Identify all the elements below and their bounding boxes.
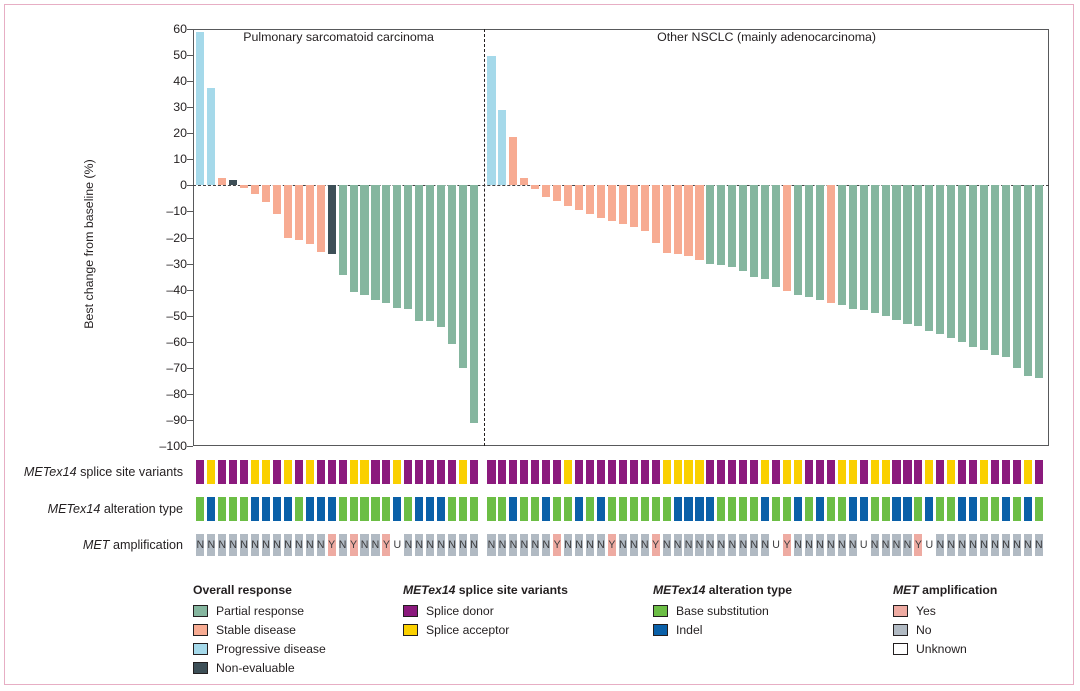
- track-cell-alteration: [925, 497, 933, 521]
- legend-label: Base substitution: [676, 604, 769, 618]
- legend-swatch-icon: [653, 605, 668, 617]
- bar: [761, 185, 769, 279]
- bar: [597, 185, 605, 218]
- track-cell-amplification: N: [674, 534, 682, 556]
- bar: [273, 185, 281, 214]
- track-cell-alteration: [717, 497, 725, 521]
- track-cell-amplification: Y: [914, 534, 922, 556]
- track-label-splice: METex14 splice site variants: [5, 465, 183, 479]
- track-cell-amplification: N: [520, 534, 528, 556]
- track-cell-alteration: [575, 497, 583, 521]
- track-cell-alteration: [750, 497, 758, 521]
- bar: [805, 185, 813, 297]
- track-cell-splice: [415, 460, 423, 484]
- y-tick-label: 0: [125, 178, 187, 192]
- track-cell-amplification: N: [564, 534, 572, 556]
- track-cell-amplification: N: [706, 534, 714, 556]
- track-cell-amplification: N: [218, 534, 226, 556]
- legend-label: Splice donor: [426, 604, 494, 618]
- y-tick-label: 60: [125, 22, 187, 36]
- bar: [470, 185, 478, 422]
- track-cell-splice: [761, 460, 769, 484]
- y-tick-label: –70: [125, 361, 187, 375]
- track-cell-amplification: N: [575, 534, 583, 556]
- panel-divider: [484, 29, 485, 446]
- track-cell-splice: [509, 460, 517, 484]
- bar: [630, 185, 638, 227]
- track-cell-alteration: [360, 497, 368, 521]
- track-cell-amplification: N: [728, 534, 736, 556]
- track-cell-splice: [240, 460, 248, 484]
- track-cell-amplification: Y: [350, 534, 358, 556]
- track-cell-alteration: [794, 497, 802, 521]
- track-cell-splice: [925, 460, 933, 484]
- legend-item: Partial response: [193, 601, 326, 620]
- legend-swatch-icon: [193, 643, 208, 655]
- track-cell-alteration: [542, 497, 550, 521]
- track-cell-alteration: [1035, 497, 1043, 521]
- legend-group: METex14 splice site variantsSplice donor…: [403, 583, 568, 639]
- track-cell-amplification: N: [739, 534, 747, 556]
- track-cell-splice: [663, 460, 671, 484]
- track-cell-splice: [218, 460, 226, 484]
- track-cell-splice: [498, 460, 506, 484]
- track-cell-alteration: [619, 497, 627, 521]
- bar: [487, 56, 495, 185]
- legend-item: Indel: [653, 620, 792, 639]
- track-cell-splice: [980, 460, 988, 484]
- track-cell-amplification: N: [641, 534, 649, 556]
- track-cell-alteration: [553, 497, 561, 521]
- bar: [339, 185, 347, 275]
- track-cell-splice: [360, 460, 368, 484]
- bar: [903, 185, 911, 323]
- track-cell-alteration: [608, 497, 616, 521]
- track-cell-splice: [608, 460, 616, 484]
- track-cell-alteration: [218, 497, 226, 521]
- y-tick-label: –90: [125, 413, 187, 427]
- track-cell-amplification: Y: [783, 534, 791, 556]
- track-cell-amplification: N: [404, 534, 412, 556]
- track-cell-splice: [827, 460, 835, 484]
- track-cell-splice: [641, 460, 649, 484]
- track-cell-amplification: N: [498, 534, 506, 556]
- track-cell-alteration: [382, 497, 390, 521]
- bar: [827, 185, 835, 302]
- track-cell-amplification: N: [470, 534, 478, 556]
- track-cell-amplification: N: [251, 534, 259, 556]
- track-cell-splice: [542, 460, 550, 484]
- track-cell-alteration: [207, 497, 215, 521]
- track-cell-amplification: N: [936, 534, 944, 556]
- y-tick-label: –50: [125, 309, 187, 323]
- bar: [717, 185, 725, 264]
- track-cell-alteration: [969, 497, 977, 521]
- track-cell-amplification: N: [426, 534, 434, 556]
- track-cell-amplification: N: [262, 534, 270, 556]
- track-cell-splice: [553, 460, 561, 484]
- track-cell-amplification: Y: [328, 534, 336, 556]
- bar: [619, 185, 627, 224]
- track-cell-amplification: Y: [652, 534, 660, 556]
- track-cell-splice: [947, 460, 955, 484]
- track-cell-amplification: N: [360, 534, 368, 556]
- track-cell-alteration: [860, 497, 868, 521]
- bar: [229, 180, 237, 185]
- track-cell-splice: [750, 460, 758, 484]
- track-cell-alteration: [251, 497, 259, 521]
- waterfall-plot: 6050403020100–10–20–30–40–50–60–70–80–90…: [5, 5, 1075, 686]
- track-cell-alteration: [371, 497, 379, 521]
- bar: [437, 185, 445, 327]
- track-cell-amplification: N: [448, 534, 456, 556]
- legend-label: Progressive disease: [216, 642, 326, 656]
- track-cell-amplification: N: [437, 534, 445, 556]
- legend-label: Stable disease: [216, 623, 296, 637]
- legend-group: MET amplificationYesNoUnknown: [893, 583, 997, 658]
- bar: [218, 178, 226, 186]
- track-label-amplification: MET amplification: [5, 538, 183, 552]
- legend-item: Yes: [893, 601, 997, 620]
- track-cell-alteration: [980, 497, 988, 521]
- bar: [586, 185, 594, 214]
- track-cell-amplification: N: [586, 534, 594, 556]
- bar: [564, 185, 572, 206]
- legend-item: Unknown: [893, 639, 997, 658]
- track-cell-amplification: N: [750, 534, 758, 556]
- track-cell-splice: [470, 460, 478, 484]
- track-cell-splice: [575, 460, 583, 484]
- track-cell-amplification: N: [196, 534, 204, 556]
- bar: [531, 185, 539, 189]
- legend-swatch-icon: [193, 605, 208, 617]
- track-cell-amplification: U: [393, 534, 401, 556]
- track-cell-alteration: [914, 497, 922, 521]
- track-cell-splice: [317, 460, 325, 484]
- bar: [196, 32, 204, 186]
- y-tick-label: 10: [125, 152, 187, 166]
- track-cell-alteration: [1024, 497, 1032, 521]
- track-cell-alteration: [991, 497, 999, 521]
- track-cell-amplification: N: [339, 534, 347, 556]
- track-cell-alteration: [684, 497, 692, 521]
- track-cell-alteration: [295, 497, 303, 521]
- legend-item: Progressive disease: [193, 639, 326, 658]
- track-cell-amplification: N: [487, 534, 495, 556]
- track-cell-amplification: N: [531, 534, 539, 556]
- track-cell-splice: [586, 460, 594, 484]
- track-cell-alteration: [706, 497, 714, 521]
- track-cell-amplification: Y: [382, 534, 390, 556]
- track-cell-splice: [564, 460, 572, 484]
- panel-title-right: Other NSCLC (mainly adenocarcinoma): [484, 30, 1049, 44]
- track-cell-alteration: [1013, 497, 1021, 521]
- bar: [520, 178, 528, 186]
- track-cell-splice: [350, 460, 358, 484]
- track-cell-amplification: N: [816, 534, 824, 556]
- track-cell-splice: [1035, 460, 1043, 484]
- bar: [1002, 185, 1010, 357]
- y-tick-label: –40: [125, 283, 187, 297]
- track-cell-amplification: N: [684, 534, 692, 556]
- track-cell-alteration: [339, 497, 347, 521]
- bar: [371, 185, 379, 300]
- track-cell-splice: [339, 460, 347, 484]
- track-cell-amplification: N: [1002, 534, 1010, 556]
- track-cell-splice: [531, 460, 539, 484]
- track-cell-amplification: N: [240, 534, 248, 556]
- track-cell-splice: [619, 460, 627, 484]
- track-cell-amplification: N: [794, 534, 802, 556]
- bar: [251, 185, 259, 194]
- track-cell-splice: [196, 460, 204, 484]
- track-cell-amplification: N: [892, 534, 900, 556]
- bar: [317, 185, 325, 251]
- track-cell-splice: [717, 460, 725, 484]
- bar: [448, 185, 456, 344]
- legend-label: Non-evaluable: [216, 661, 295, 675]
- track-cell-alteration: [498, 497, 506, 521]
- legend-item: Base substitution: [653, 601, 792, 620]
- legend-item: No: [893, 620, 997, 639]
- track-cell-alteration: [404, 497, 412, 521]
- track-cell-splice: [487, 460, 495, 484]
- legend-item: Stable disease: [193, 620, 326, 639]
- track-cell-alteration: [273, 497, 281, 521]
- track-cell-amplification: N: [827, 534, 835, 556]
- track-cell-splice: [695, 460, 703, 484]
- track-cell-alteration: [772, 497, 780, 521]
- track-cell-amplification: N: [273, 534, 281, 556]
- legend-label: Splice acceptor: [426, 623, 509, 637]
- track-cell-alteration: [284, 497, 292, 521]
- track-cell-splice: [306, 460, 314, 484]
- bar: [816, 185, 824, 300]
- bar: [871, 185, 879, 313]
- track-cell-alteration: [448, 497, 456, 521]
- track-cell-alteration: [240, 497, 248, 521]
- track-cell-amplification: N: [509, 534, 517, 556]
- track-cell-amplification: N: [295, 534, 303, 556]
- bar: [207, 88, 215, 186]
- track-cell-splice: [328, 460, 336, 484]
- bar: [509, 137, 517, 185]
- bar: [1024, 185, 1032, 375]
- track-cell-amplification: N: [630, 534, 638, 556]
- track-cell-alteration: [892, 497, 900, 521]
- y-tick-label: –10: [125, 204, 187, 218]
- legend-item: Splice donor: [403, 601, 568, 620]
- bar: [393, 185, 401, 307]
- track-cell-alteration: [816, 497, 824, 521]
- bar: [415, 185, 423, 321]
- track-cell-splice: [991, 460, 999, 484]
- track-cell-alteration: [838, 497, 846, 521]
- legend-label: Partial response: [216, 604, 304, 618]
- bar: [652, 185, 660, 242]
- track-cell-amplification: N: [838, 534, 846, 556]
- track-cell-splice: [597, 460, 605, 484]
- y-tick-label: 40: [125, 74, 187, 88]
- track-cell-amplification: N: [761, 534, 769, 556]
- y-tick-label: –60: [125, 335, 187, 349]
- track-cell-splice: [382, 460, 390, 484]
- bar: [1035, 185, 1043, 378]
- y-tick-mark: [187, 446, 193, 447]
- track-cell-amplification: N: [871, 534, 879, 556]
- track-cell-amplification: N: [805, 534, 813, 556]
- track-label-alteration: METex14 alteration type: [5, 502, 183, 516]
- track-cell-splice: [794, 460, 802, 484]
- track-cell-alteration: [393, 497, 401, 521]
- bar: [284, 185, 292, 237]
- track-cell-alteration: [306, 497, 314, 521]
- track-cell-amplification: N: [371, 534, 379, 556]
- track-cell-amplification: N: [459, 534, 467, 556]
- track-cell-splice: [816, 460, 824, 484]
- track-cell-splice: [969, 460, 977, 484]
- bar: [739, 185, 747, 271]
- track-cell-amplification: N: [903, 534, 911, 556]
- track-cell-amplification: N: [284, 534, 292, 556]
- track-cell-splice: [393, 460, 401, 484]
- track-cell-amplification: U: [860, 534, 868, 556]
- track-cell-alteration: [437, 497, 445, 521]
- legend-title: MET amplification: [893, 583, 997, 597]
- legend-swatch-icon: [893, 605, 908, 617]
- track-cell-amplification: N: [695, 534, 703, 556]
- track-cell-splice: [426, 460, 434, 484]
- bar: [882, 185, 890, 315]
- track-cell-splice: [630, 460, 638, 484]
- bar: [958, 185, 966, 341]
- track-cell-splice: [772, 460, 780, 484]
- bar: [849, 185, 857, 309]
- bar: [240, 185, 248, 188]
- track-cell-amplification: N: [317, 534, 325, 556]
- track-cell-splice: [903, 460, 911, 484]
- track-cell-amplification: N: [849, 534, 857, 556]
- track-cell-splice: [805, 460, 813, 484]
- y-tick-label: –30: [125, 257, 187, 271]
- track-cell-splice: [958, 460, 966, 484]
- track-cell-alteration: [564, 497, 572, 521]
- bar: [360, 185, 368, 294]
- track-cell-alteration: [805, 497, 813, 521]
- track-cell-alteration: [586, 497, 594, 521]
- track-cell-alteration: [903, 497, 911, 521]
- track-cell-splice: [936, 460, 944, 484]
- track-cell-alteration: [350, 497, 358, 521]
- track-cell-splice: [448, 460, 456, 484]
- track-cell-alteration: [674, 497, 682, 521]
- track-cell-alteration: [695, 497, 703, 521]
- bar: [684, 185, 692, 255]
- bar: [991, 185, 999, 354]
- track-cell-amplification: N: [1024, 534, 1032, 556]
- bar: [914, 185, 922, 326]
- track-cell-amplification: N: [969, 534, 977, 556]
- legend-swatch-icon: [893, 624, 908, 636]
- bar: [838, 185, 846, 305]
- bar: [350, 185, 358, 292]
- track-cell-alteration: [936, 497, 944, 521]
- track-cell-amplification: N: [717, 534, 725, 556]
- track-cell-splice: [404, 460, 412, 484]
- track-cell-splice: [1013, 460, 1021, 484]
- track-cell-alteration: [728, 497, 736, 521]
- legend-swatch-icon: [893, 643, 908, 655]
- bar: [426, 185, 434, 321]
- track-cell-amplification: N: [958, 534, 966, 556]
- bar: [728, 185, 736, 267]
- track-cell-amplification: N: [991, 534, 999, 556]
- track-cell-splice: [284, 460, 292, 484]
- track-cell-alteration: [663, 497, 671, 521]
- track-cell-alteration: [630, 497, 638, 521]
- track-cell-splice: [251, 460, 259, 484]
- track-cell-splice: [295, 460, 303, 484]
- bar: [794, 185, 802, 294]
- y-tick-label: –20: [125, 231, 187, 245]
- legend-item: Non-evaluable: [193, 658, 326, 677]
- track-cell-splice: [706, 460, 714, 484]
- track-cell-splice: [520, 460, 528, 484]
- track-cell-splice: [892, 460, 900, 484]
- track-cell-alteration: [262, 497, 270, 521]
- track-cell-splice: [838, 460, 846, 484]
- track-cell-alteration: [882, 497, 890, 521]
- track-cell-alteration: [520, 497, 528, 521]
- track-cell-alteration: [947, 497, 955, 521]
- bar: [860, 185, 868, 310]
- track-cell-splice: [652, 460, 660, 484]
- bar: [641, 185, 649, 231]
- track-cell-amplification: N: [1035, 534, 1043, 556]
- track-cell-amplification: N: [882, 534, 890, 556]
- track-cell-amplification: N: [207, 534, 215, 556]
- track-cell-amplification: U: [925, 534, 933, 556]
- track-cell-alteration: [641, 497, 649, 521]
- track-cell-splice: [262, 460, 270, 484]
- y-tick-label: 50: [125, 48, 187, 62]
- track-cell-amplification: N: [415, 534, 423, 556]
- bar: [1013, 185, 1021, 367]
- track-cell-splice: [739, 460, 747, 484]
- track-cell-splice: [437, 460, 445, 484]
- bar: [663, 185, 671, 253]
- legend-swatch-icon: [193, 662, 208, 674]
- track-cell-splice: [674, 460, 682, 484]
- track-cell-alteration: [783, 497, 791, 521]
- y-tick-label: 20: [125, 126, 187, 140]
- bar: [306, 185, 314, 244]
- y-tick-label: –100: [125, 439, 187, 453]
- track-cell-amplification: N: [597, 534, 605, 556]
- track-cell-alteration: [652, 497, 660, 521]
- track-cell-alteration: [328, 497, 336, 521]
- bar: [295, 185, 303, 240]
- track-cell-splice: [728, 460, 736, 484]
- track-cell-amplification: N: [663, 534, 671, 556]
- track-cell-splice: [273, 460, 281, 484]
- legend-item: Splice acceptor: [403, 620, 568, 639]
- track-cell-alteration: [761, 497, 769, 521]
- track-cell-splice: [229, 460, 237, 484]
- track-cell-splice: [783, 460, 791, 484]
- bar: [674, 185, 682, 254]
- track-cell-splice: [371, 460, 379, 484]
